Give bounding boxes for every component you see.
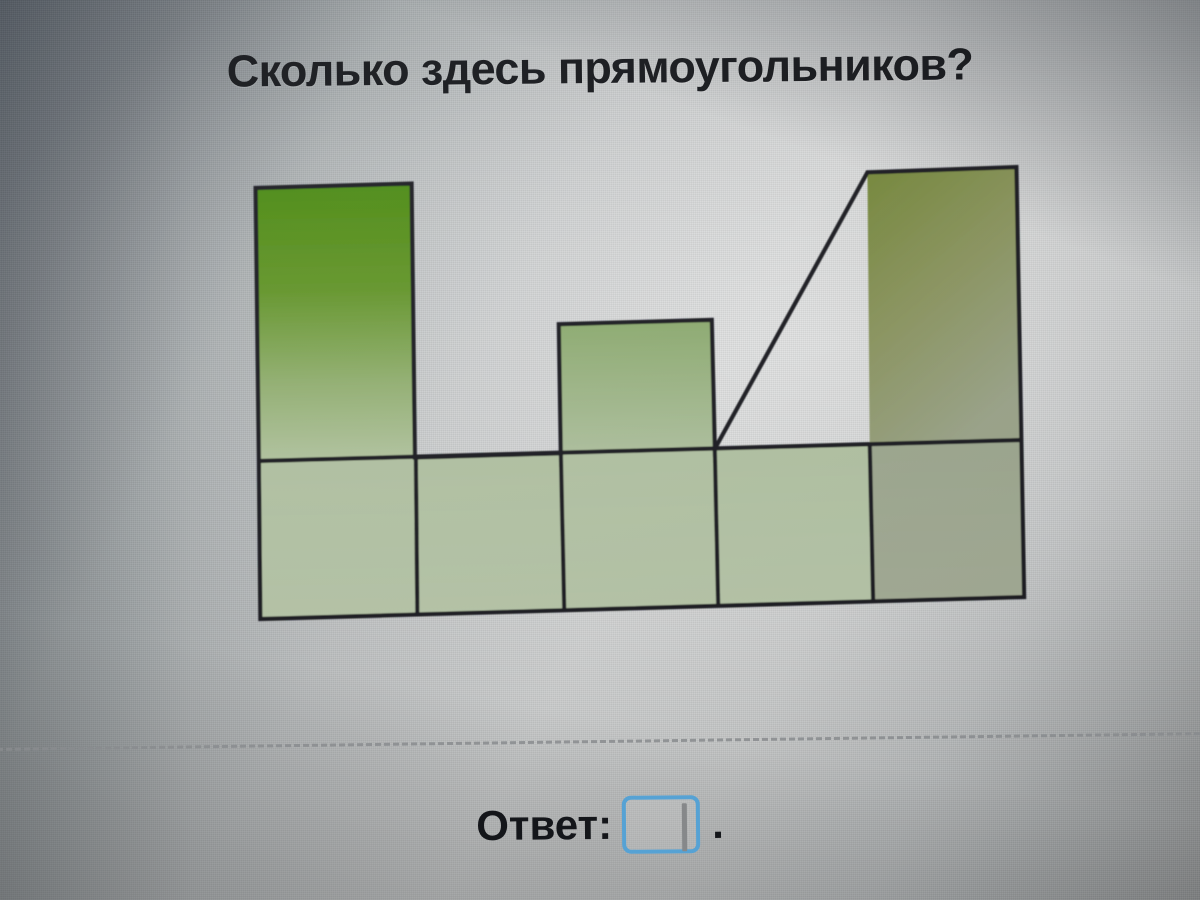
answer-row: Ответ: . <box>0 791 1200 859</box>
answer-input[interactable] <box>622 795 701 854</box>
screen-background <box>0 0 1200 900</box>
answer-label: Ответ: <box>476 801 612 850</box>
answer-trailing-period: . <box>712 800 724 848</box>
text-caret <box>682 803 687 851</box>
